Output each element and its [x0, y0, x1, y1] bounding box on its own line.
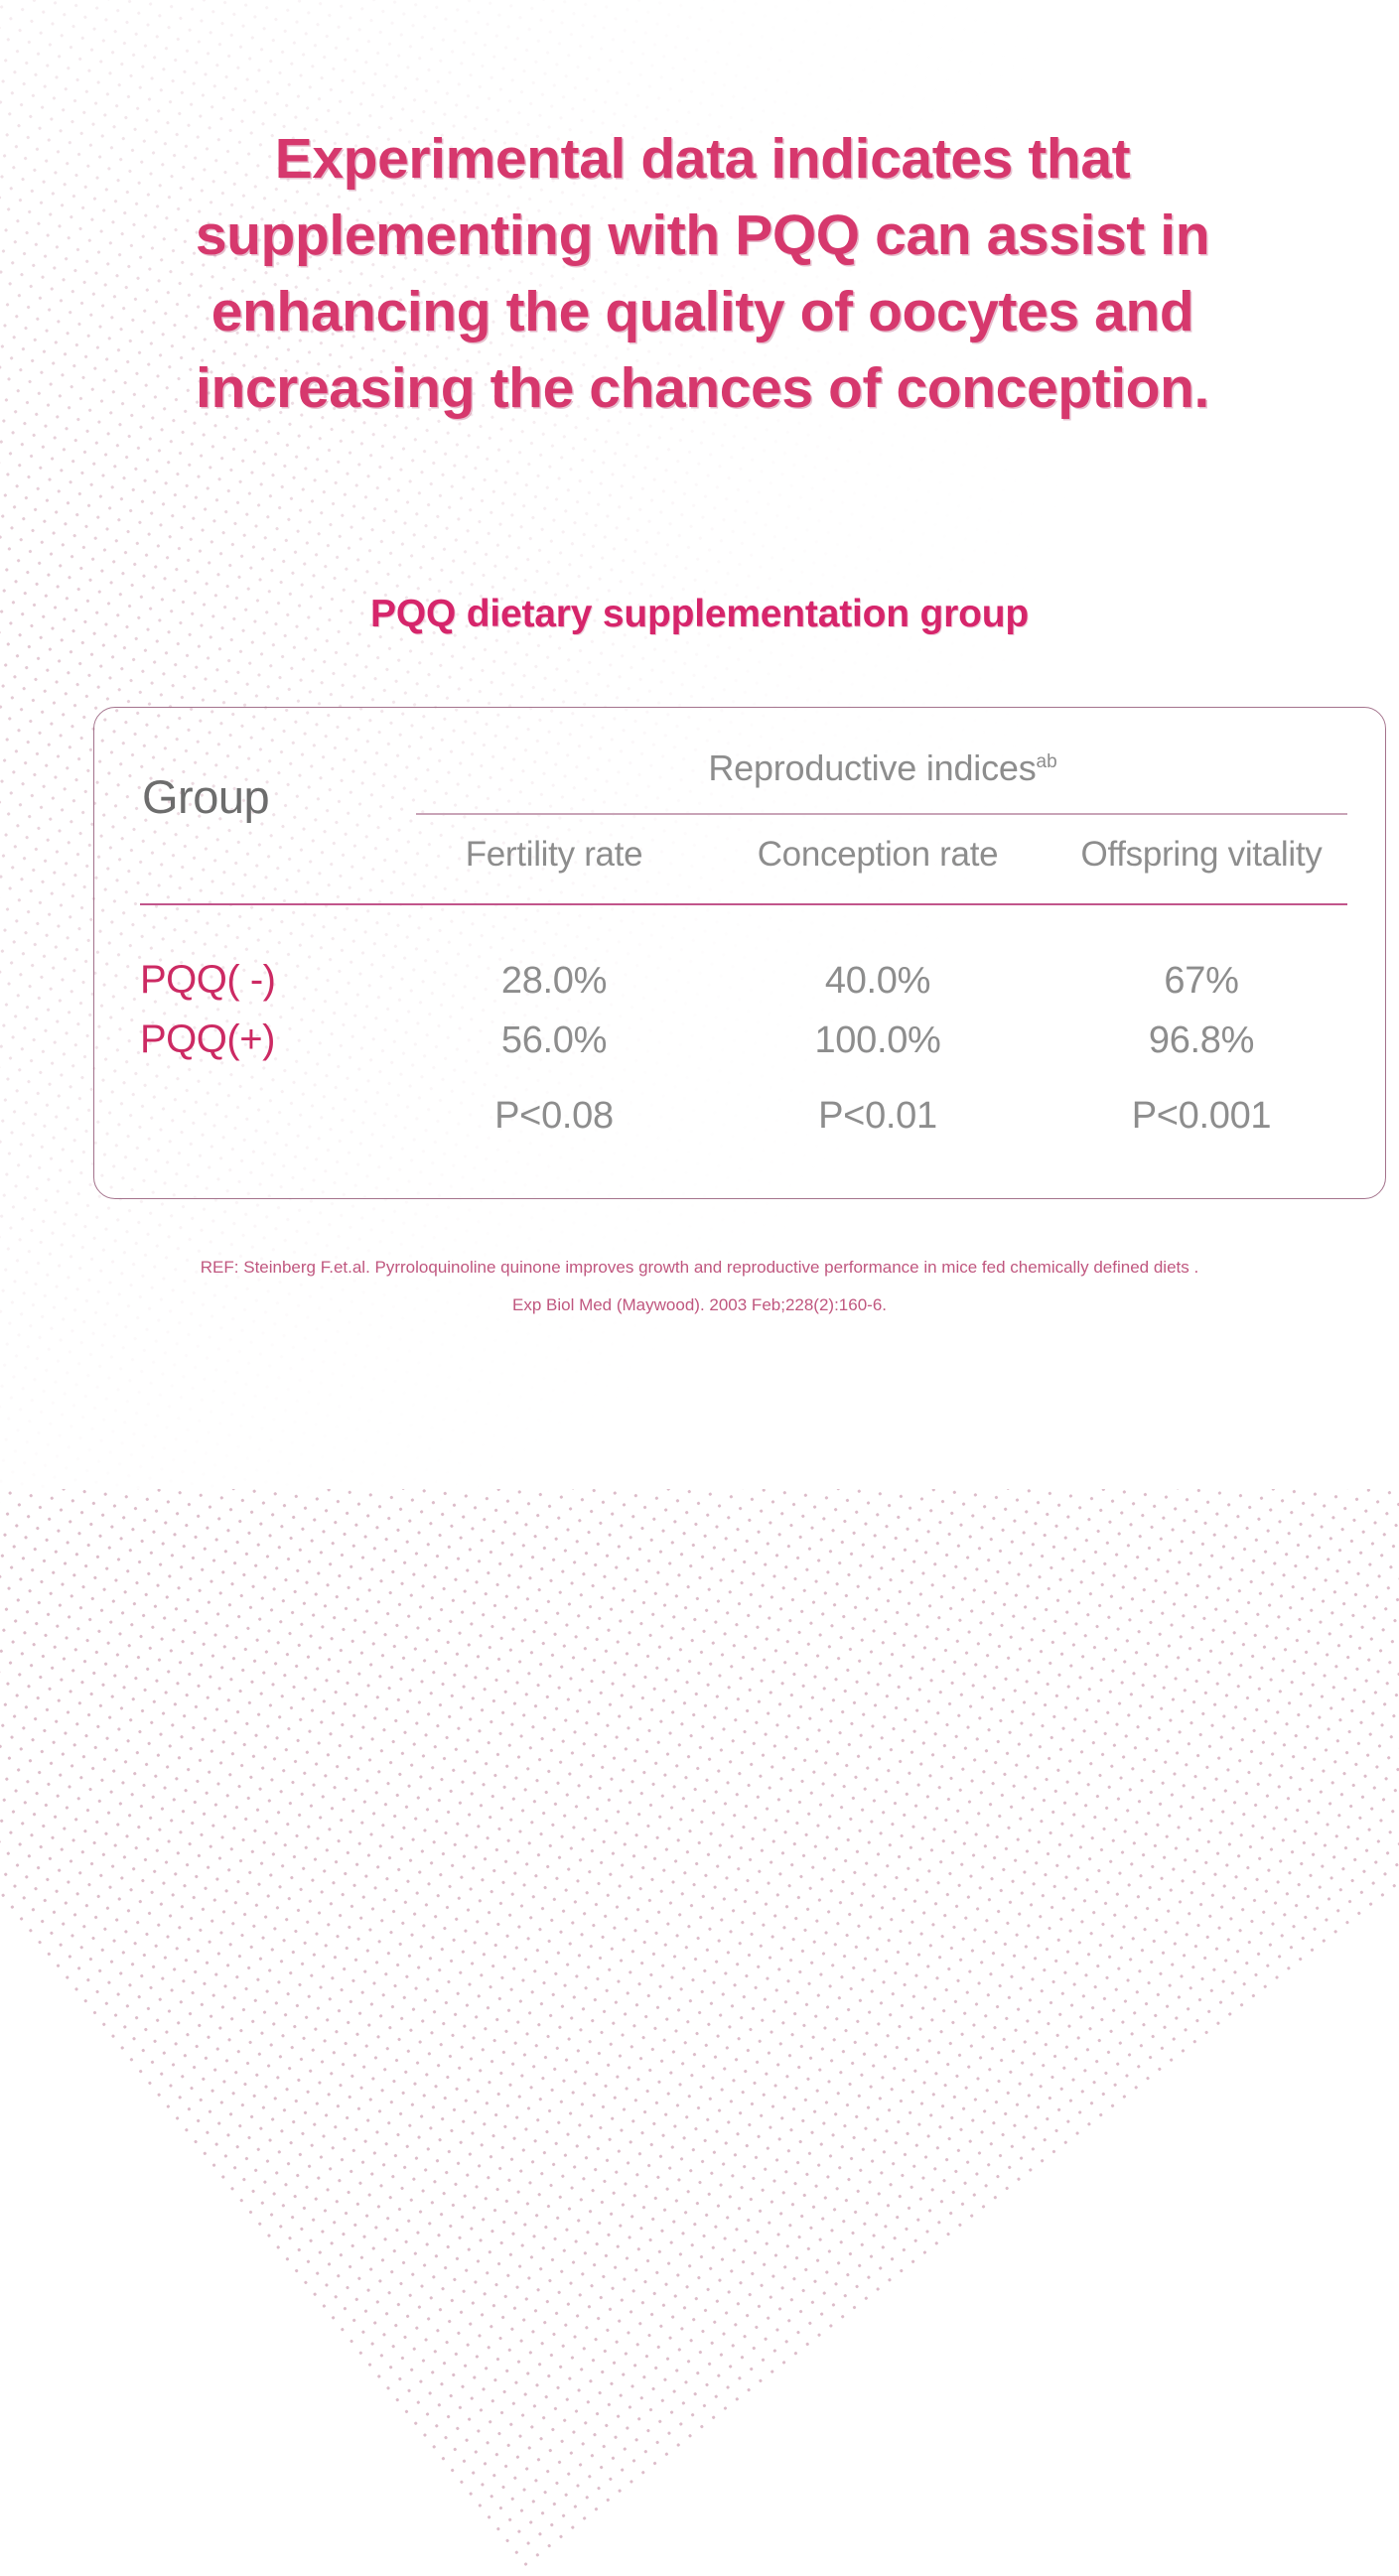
subtitle: PQQ dietary supplementation group	[0, 591, 1399, 638]
reference-line-1: REF: Steinberg F.et.al. Pyrroloquinoline…	[0, 1249, 1399, 1287]
table-row: PQQ(+) 56.0% 100.0% 96.8%	[94, 1017, 1387, 1062]
cell-pqq-positive-conception-rate: 100.0%	[716, 1019, 1040, 1062]
table-row: PQQ( -) 28.0% 40.0% 67%	[94, 958, 1387, 1003]
row-values: 28.0% 40.0% 67%	[392, 960, 1363, 1003]
reference-citation: REF: Steinberg F.et.al. Pyrroloquinoline…	[0, 1249, 1399, 1324]
table-row-pvalues: P<0.08 P<0.01 P<0.001	[94, 1095, 1387, 1138]
row-values: 56.0% 100.0% 96.8%	[392, 1019, 1363, 1062]
poster-page: Experimental data indicates that supplem…	[0, 0, 1399, 1489]
cell-pqq-negative-fertility-rate: 28.0%	[392, 960, 716, 1003]
table-header-divider	[140, 903, 1347, 905]
column-header-fertility-rate: Fertility rate	[392, 835, 716, 875]
results-table-card: Group Reproductive indicesab Fertility r…	[93, 707, 1386, 1199]
cell-pvalue-conception-rate: P<0.01	[716, 1095, 1040, 1138]
indices-header-text: Reproductive indices	[708, 747, 1036, 788]
headline-line-4: increasing the chances of conception.	[129, 350, 1276, 427]
cell-pqq-positive-fertility-rate: 56.0%	[392, 1019, 716, 1062]
headline-line-3: enhancing the quality of oocytes and	[129, 274, 1276, 350]
row-label-pqq-positive: PQQ(+)	[94, 1017, 392, 1062]
row-values: P<0.08 P<0.01 P<0.001	[392, 1095, 1363, 1138]
cell-pqq-positive-offspring-vitality: 96.8%	[1040, 1019, 1363, 1062]
column-header-conception-rate: Conception rate	[716, 835, 1040, 875]
headline-line-2: supplementing with PQQ can assist in	[129, 198, 1276, 274]
results-table: Group Reproductive indicesab Fertility r…	[94, 708, 1387, 1200]
reference-line-2: Exp Biol Med (Maywood). 2003 Feb;228(2):…	[0, 1287, 1399, 1324]
cell-pvalue-offspring-vitality: P<0.001	[1040, 1095, 1363, 1138]
column-header-offspring-vitality: Offspring vitality	[1040, 835, 1363, 875]
table-header-reproductive-indices: Reproductive indicesab	[416, 747, 1349, 789]
table-subheader-row: Fertility rate Conception rate Offspring…	[392, 835, 1363, 875]
headline: Experimental data indicates that supplem…	[129, 121, 1276, 427]
row-label-pqq-negative: PQQ( -)	[94, 958, 392, 1003]
cell-pqq-negative-offspring-vitality: 67%	[1040, 960, 1363, 1003]
cell-pvalue-fertility-rate: P<0.08	[392, 1095, 716, 1138]
headline-line-1: Experimental data indicates that	[129, 121, 1276, 198]
table-subheader-divider	[416, 813, 1347, 815]
cell-pqq-negative-conception-rate: 40.0%	[716, 960, 1040, 1003]
indices-header-superscript: ab	[1037, 751, 1057, 772]
table-header-group: Group	[142, 769, 269, 824]
